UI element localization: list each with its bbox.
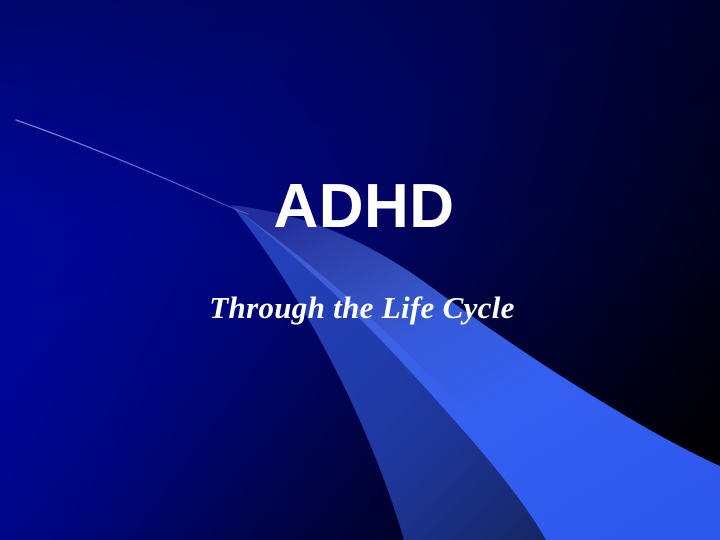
slide-subtitle: Through the Life Cycle [0,288,720,328]
page-title: ADHD [0,172,720,242]
presentation-slide: ADHD Through the Life Cycle [0,0,720,540]
slide-text-layer: ADHD Through the Life Cycle [0,0,720,540]
